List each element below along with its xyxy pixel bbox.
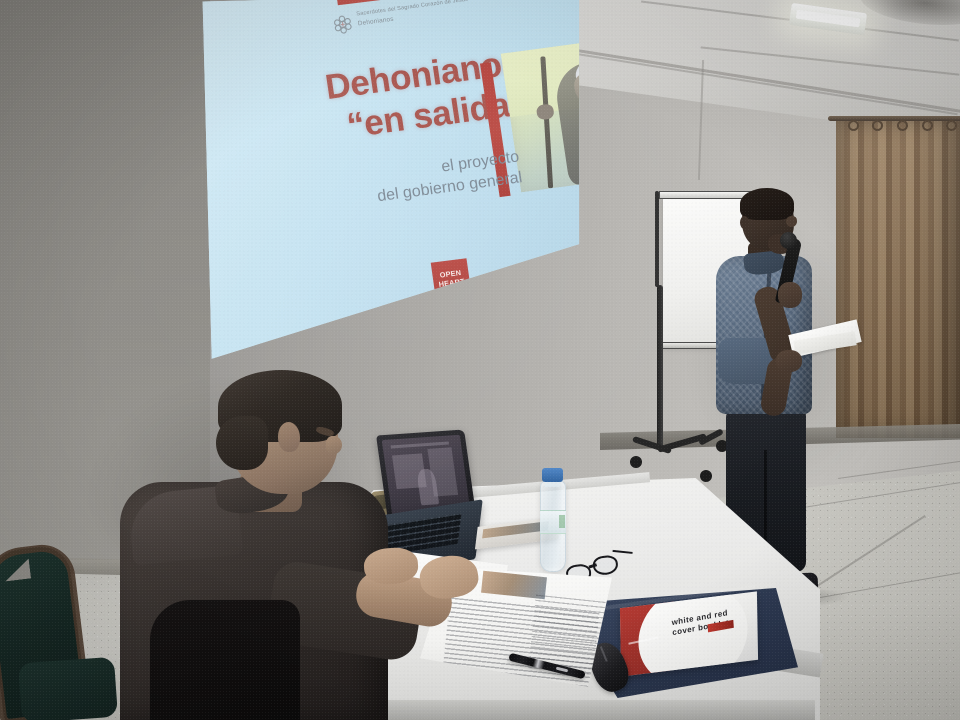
curtain-grommet xyxy=(897,120,908,131)
slide-header-logo: Sacerdotes del Sagrado Corazón de Jesús … xyxy=(331,0,534,48)
seated-person-hair-side xyxy=(216,416,268,470)
water-bottle-label xyxy=(540,510,566,534)
artwork-hand xyxy=(536,103,554,120)
presenter-ear xyxy=(740,216,749,229)
presenter-hand-holding-paper xyxy=(776,350,802,372)
label-accent xyxy=(559,515,565,528)
eyeglass-temple xyxy=(612,550,632,554)
slide-subtitle: el proyecto del gobierno general xyxy=(235,146,524,225)
second-chair[interactable] xyxy=(150,600,300,720)
seated-person-nose xyxy=(326,436,342,454)
water-bottle-cap[interactable] xyxy=(542,468,563,482)
flower-cross-logo-icon xyxy=(331,13,354,35)
curtain-grommet xyxy=(946,120,957,131)
conference-room-photo: Sacerdotes del Sagrado Corazón de Jesús … xyxy=(0,0,960,720)
slide-logo-text: Sacerdotes del Sagrado Corazón de Jesús … xyxy=(356,0,532,28)
curtain-grommet xyxy=(872,120,883,131)
presenter-nose xyxy=(786,216,797,227)
mouse-button-split xyxy=(600,646,607,661)
presenter-hand-holding-microphone xyxy=(778,282,802,308)
curtain-rod xyxy=(828,116,960,121)
seated-person-ear xyxy=(278,422,300,452)
flipchart-frame xyxy=(655,191,659,287)
flipchart-stand-post xyxy=(657,285,663,450)
curtain-grommet xyxy=(848,120,859,131)
green-chair-seat[interactable] xyxy=(18,657,118,720)
flipchart-caster xyxy=(630,456,642,468)
presenter-hair xyxy=(740,188,794,220)
light-tube xyxy=(796,10,861,28)
curtain-grommet xyxy=(922,120,933,131)
slide-title: Dehonianos “en salida” xyxy=(220,42,529,163)
